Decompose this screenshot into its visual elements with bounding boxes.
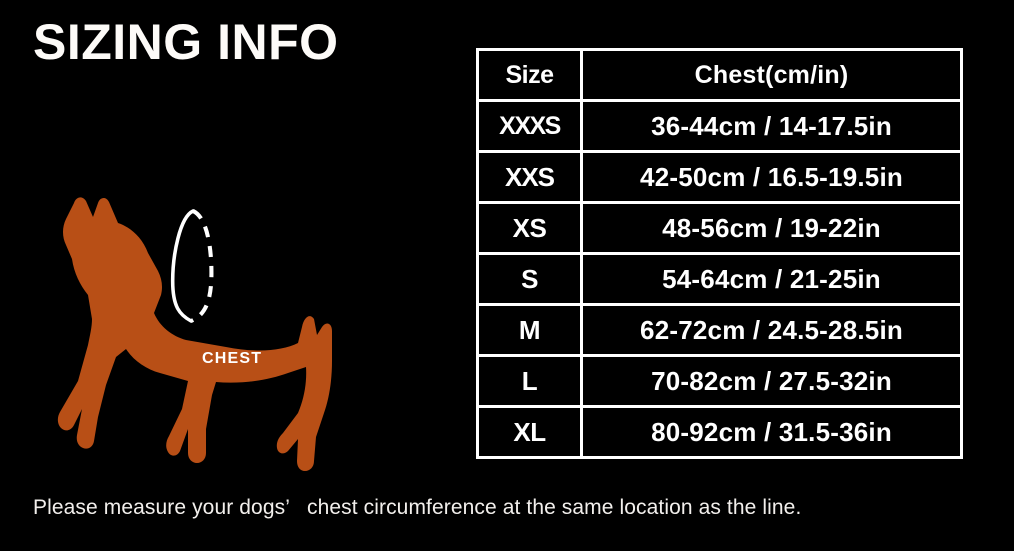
measurement-instruction-caption: Please measure your dogs’ chest circumfe… [33,496,801,520]
chest-measure-loop-icon [30,95,430,485]
cell-size: S [479,255,583,306]
chest-label: CHEST [202,350,262,368]
table-row: XXXS 36-44cm / 14-17.5in [479,102,963,153]
cell-chest: 80-92cm / 31.5-36in [583,408,963,459]
size-table-container: Size Chest(cm/in) XXXS 36-44cm / 14-17.5… [476,48,963,459]
table-row: L 70-82cm / 27.5-32in [479,357,963,408]
table-row: XXS 42-50cm / 16.5-19.5in [479,153,963,204]
table-row: XL 80-92cm / 31.5-36in [479,408,963,459]
table-row: XS 48-56cm / 19-22in [479,204,963,255]
table-row: M 62-72cm / 24.5-28.5in [479,306,963,357]
column-header-chest: Chest(cm/in) [583,51,963,102]
dog-illustration: CHEST [30,95,430,485]
cell-size: XXXS [479,102,583,153]
page-title: SIZING INFO [33,17,339,67]
cell-chest: 48-56cm / 19-22in [583,204,963,255]
cell-size: XS [479,204,583,255]
cell-chest: 36-44cm / 14-17.5in [583,102,963,153]
table-row: S 54-64cm / 21-25in [479,255,963,306]
column-header-size: Size [479,51,583,102]
cell-chest: 70-82cm / 27.5-32in [583,357,963,408]
table-header-row: Size Chest(cm/in) [479,51,963,102]
sizing-info-graphic: SIZING INFO CHEST Size Chest(cm/in) [0,0,1014,551]
cell-chest: 62-72cm / 24.5-28.5in [583,306,963,357]
cell-size: M [479,306,583,357]
cell-size: XXS [479,153,583,204]
cell-size: XL [479,408,583,459]
size-chart-table: Size Chest(cm/in) XXXS 36-44cm / 14-17.5… [476,48,963,459]
cell-size: L [479,357,583,408]
cell-chest: 54-64cm / 21-25in [583,255,963,306]
cell-chest: 42-50cm / 16.5-19.5in [583,153,963,204]
